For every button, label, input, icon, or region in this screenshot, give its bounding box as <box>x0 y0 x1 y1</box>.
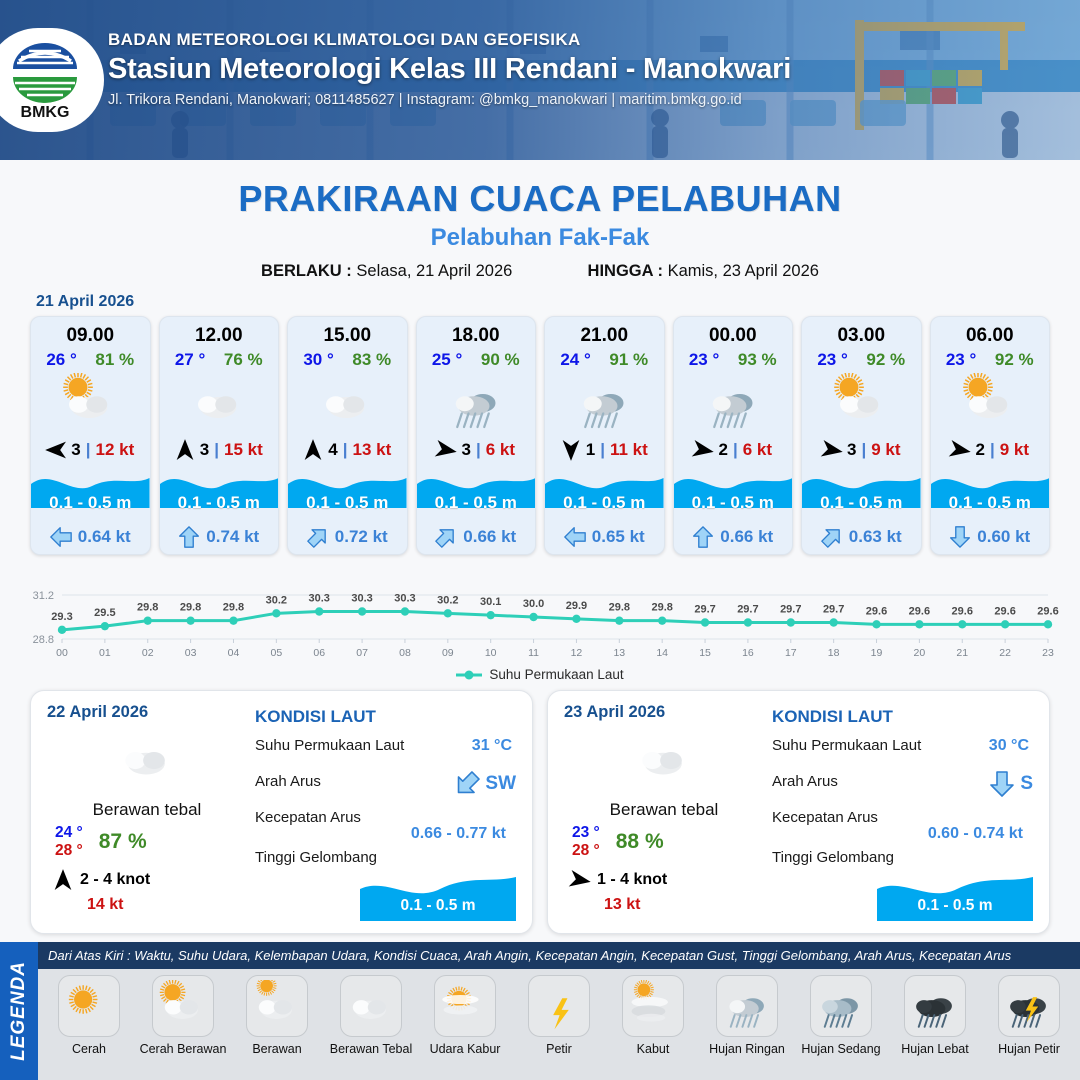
chart-legend-label: Suhu Permukaan Laut <box>489 667 623 682</box>
card-current-speed: 0.63 kt <box>849 527 902 547</box>
hourly-card[interactable]: 18.00 25 ° 90 % 3 | 6 kt 0.1 - 0.5 m 0.6… <box>416 316 537 555</box>
svg-text:18: 18 <box>828 647 840 659</box>
panel-wave-label: Tinggi Gelombang <box>255 849 377 866</box>
chart-legend: Suhu Permukaan Laut <box>0 667 1080 682</box>
card-current-speed: 0.66 kt <box>720 527 773 547</box>
svg-text:12: 12 <box>571 647 583 659</box>
svg-text:01: 01 <box>99 647 111 659</box>
hingga-value: Kamis, 23 April 2026 <box>668 262 819 280</box>
card-gust: 6 kt <box>743 440 772 460</box>
panel-sst-label: Suhu Permukaan Laut <box>772 737 921 754</box>
svg-text:30.2: 30.2 <box>437 594 458 606</box>
card-temp-hum: 23 ° 93 % <box>674 347 793 370</box>
panel-current-dir-value-wrap: S <box>989 771 1033 797</box>
card-wind-speed: 3 <box>847 440 856 460</box>
legend-icon-box <box>152 975 214 1037</box>
card-current-row: 0.74 kt <box>160 520 279 554</box>
wind-direction-arrow-icon <box>561 438 581 462</box>
legend-content: Dari Atas Kiri : Waktu, Suhu Udara, Kele… <box>38 942 1080 1080</box>
legend-item: Hujan Lebat <box>888 975 982 1080</box>
svg-text:14: 14 <box>656 647 668 659</box>
svg-text:29.8: 29.8 <box>180 602 201 614</box>
svg-text:23: 23 <box>1042 647 1054 659</box>
legend-item: Kabut <box>606 975 700 1080</box>
svg-text:29.5: 29.5 <box>94 607 115 619</box>
current-direction-arrow-icon <box>816 521 847 552</box>
hourly-card[interactable]: 00.00 23 ° 93 % 2 | 6 kt 0.1 - 0.5 m 0.6… <box>673 316 794 555</box>
card-temp-hum: 23 ° 92 % <box>802 347 921 370</box>
legend-item: Hujan Petir <box>982 975 1076 1080</box>
legend-item-label: Petir <box>546 1042 572 1056</box>
panel-temp-max: 28 ° <box>55 842 83 860</box>
panel-temp-column: 24 ° 28 ° <box>55 824 83 860</box>
legend-item: Berawan <box>230 975 324 1080</box>
card-temp-hum: 30 ° 83 % <box>288 347 407 370</box>
svg-text:29.6: 29.6 <box>866 605 887 617</box>
card-time: 15.00 <box>288 317 407 347</box>
hingga-label: HINGGA : <box>588 262 663 280</box>
card-wave-height: 0.1 - 0.5 m <box>545 493 664 513</box>
svg-text:16: 16 <box>742 647 754 659</box>
panel-current-dir-label: Arah Arus <box>255 773 321 790</box>
card-current-speed: 0.65 kt <box>592 527 645 547</box>
card-wind-row: 1 | 11 kt <box>545 436 664 466</box>
card-humidity: 83 % <box>352 350 391 370</box>
panel-current-speed-label: Kecepatan Arus <box>255 809 361 826</box>
card-current-speed: 0.66 kt <box>463 527 516 547</box>
station-name: Stasiun Meteorologi Kelas III Rendani - … <box>108 53 791 86</box>
legend-item-label: Berawan Tebal <box>330 1042 412 1056</box>
svg-text:30.3: 30.3 <box>394 593 415 605</box>
rain-heavy-icon <box>909 980 961 1032</box>
card-separator: | <box>214 440 219 460</box>
svg-text:19: 19 <box>871 647 883 659</box>
card-current-row: 0.66 kt <box>674 520 793 554</box>
current-direction-arrow-icon <box>178 526 200 548</box>
svg-text:17: 17 <box>785 647 797 659</box>
panel-weather-icon <box>47 728 247 790</box>
card-separator: | <box>990 440 995 460</box>
card-gust: 15 kt <box>224 440 263 460</box>
card-wind-speed: 2 <box>718 440 727 460</box>
cloud-icon <box>116 728 178 790</box>
svg-text:29.6: 29.6 <box>994 605 1015 617</box>
panel-wind-range: 2 - 4 knot <box>80 871 150 889</box>
card-weather-icon <box>288 370 407 436</box>
card-wave-block: 0.1 - 0.5 m <box>31 466 150 520</box>
panel-current-speed-row: Kecepatan Arus <box>255 809 516 829</box>
svg-text:08: 08 <box>399 647 411 659</box>
legend-icon-box <box>528 975 590 1037</box>
panel-wave-value: 0.1 - 0.5 m <box>877 897 1033 915</box>
panel-wave-row: Tinggi Gelombang <box>255 849 516 875</box>
svg-text:30.0: 30.0 <box>523 598 544 610</box>
header-text-block: BADAN METEOROLOGI KLIMATOLOGI DAN GEOFIS… <box>108 30 791 108</box>
svg-text:06: 06 <box>313 647 325 659</box>
card-current-speed: 0.72 kt <box>335 527 388 547</box>
rain-light-icon <box>721 980 773 1032</box>
svg-text:07: 07 <box>356 647 368 659</box>
panel-condition: Berawan tebal <box>564 800 764 820</box>
current-direction-arrow-icon <box>692 526 714 548</box>
card-separator: | <box>343 440 348 460</box>
haze-icon <box>439 980 491 1032</box>
svg-text:29.6: 29.6 <box>1037 605 1058 617</box>
svg-text:29.7: 29.7 <box>694 604 715 616</box>
legend-icon-box <box>716 975 778 1037</box>
card-weather-icon <box>545 370 664 436</box>
hourly-card[interactable]: 12.00 27 ° 76 % 3 | 15 kt 0.1 - 0.5 m 0.… <box>159 316 280 555</box>
panel-current-dir-value: SW <box>485 773 516 795</box>
svg-text:00: 00 <box>56 647 68 659</box>
svg-text:29.7: 29.7 <box>780 604 801 616</box>
card-time: 03.00 <box>802 317 921 347</box>
panel-sst-row: Suhu Permukaan Laut 31 °C <box>255 737 516 763</box>
card-temperature: 30 ° <box>303 350 333 370</box>
wind-direction-arrow-icon <box>690 438 717 462</box>
card-current-speed: 0.60 kt <box>977 527 1030 547</box>
legend-item-label: Kabut <box>637 1042 670 1056</box>
card-wave-block: 0.1 - 0.5 m <box>931 466 1050 520</box>
card-separator: | <box>600 440 605 460</box>
hourly-card[interactable]: 09.00 26 ° 81 % 3 | 12 kt 0.1 - 0.5 m 0.… <box>30 316 151 555</box>
hourly-forecast-list: 09.00 26 ° 81 % 3 | 12 kt 0.1 - 0.5 m 0.… <box>0 316 1080 555</box>
card-wind-row: 3 | 6 kt <box>417 436 536 466</box>
legend-vertical-bar: LEGENDA <box>0 942 38 1080</box>
berlaku-value: Selasa, 21 April 2026 <box>356 262 512 280</box>
legend-bar-label: LEGENDA <box>8 961 30 1061</box>
legend-icon-box <box>622 975 684 1037</box>
panel-wind-row: 1 - 4 knot <box>564 868 764 892</box>
wind-direction-arrow-icon <box>947 438 974 462</box>
card-wave-height: 0.1 - 0.5 m <box>288 493 407 513</box>
sun-cloud-icon <box>831 373 891 433</box>
svg-text:30.2: 30.2 <box>266 594 287 606</box>
card-wave-block: 0.1 - 0.5 m <box>802 466 921 520</box>
panel-sea-title: KONDISI LAUT <box>255 707 516 727</box>
card-wind-row: 3 | 15 kt <box>160 436 279 466</box>
cloud-icon <box>345 980 397 1032</box>
daily-forecast-panel[interactable]: 22 April 2026 Berawan tebal 24 ° 28 ° 87… <box>30 690 533 934</box>
card-gust: 13 kt <box>352 440 391 460</box>
svg-text:05: 05 <box>271 647 283 659</box>
svg-text:10: 10 <box>485 647 497 659</box>
card-wave-block: 0.1 - 0.5 m <box>674 466 793 520</box>
card-wave-block: 0.1 - 0.5 m <box>288 466 407 520</box>
panel-sst-value: 31 °C <box>472 737 512 755</box>
cloud-icon <box>189 373 249 433</box>
rain-light-icon <box>703 373 763 433</box>
legend-icon-list: Cerah Cerah Berawan Berawan Berawan Teba… <box>38 969 1080 1080</box>
thunderstorm-icon <box>1003 980 1055 1032</box>
card-current-row: 0.63 kt <box>802 520 921 554</box>
y-axis-min-label: 28.8 <box>33 634 54 646</box>
card-wind-row: 3 | 12 kt <box>31 436 150 466</box>
card-time: 06.00 <box>931 317 1050 347</box>
card-time: 12.00 <box>160 317 279 347</box>
panel-wave-box: 0.1 - 0.5 m <box>877 873 1033 921</box>
card-current-speed: 0.74 kt <box>206 527 259 547</box>
card-wave-block: 0.1 - 0.5 m <box>417 466 536 520</box>
wind-direction-arrow-icon <box>53 868 73 892</box>
card-temperature: 24 ° <box>560 350 590 370</box>
card-current-row: 0.72 kt <box>288 520 407 554</box>
card-humidity: 92 % <box>995 350 1034 370</box>
svg-text:30.3: 30.3 <box>309 593 330 605</box>
panel-wind-row: 2 - 4 knot <box>47 868 247 892</box>
current-direction-arrow-icon <box>949 526 971 548</box>
current-direction-arrow-icon <box>431 521 462 552</box>
panel-temp-min: 24 ° <box>55 824 83 842</box>
card-weather-icon <box>417 370 536 436</box>
card-wind-speed: 4 <box>328 440 337 460</box>
panel-date: 23 April 2026 <box>564 703 764 722</box>
card-wind-speed: 3 <box>71 440 80 460</box>
panel-wave-label: Tinggi Gelombang <box>772 849 894 866</box>
panel-condition: Berawan tebal <box>47 800 247 820</box>
legend-item: Cerah <box>42 975 136 1080</box>
card-time: 21.00 <box>545 317 664 347</box>
current-direction-arrow-icon <box>564 526 586 548</box>
svg-text:21: 21 <box>956 647 968 659</box>
cloud-icon <box>317 373 377 433</box>
card-gust: 11 kt <box>610 440 648 460</box>
card-wind-speed: 1 <box>586 440 595 460</box>
legend-item: Cerah Berawan <box>136 975 230 1080</box>
card-weather-icon <box>674 370 793 436</box>
legend-item-label: Hujan Ringan <box>709 1042 785 1056</box>
card-wave-block: 0.1 - 0.5 m <box>160 466 279 520</box>
card-wind-speed: 3 <box>200 440 209 460</box>
panel-current-dir-label: Arah Arus <box>772 773 838 790</box>
panel-temp-min: 23 ° <box>572 824 600 842</box>
legend-item-label: Cerah Berawan <box>140 1042 227 1056</box>
legend-item: Udara Kabur <box>418 975 512 1080</box>
current-direction-arrow-icon <box>50 526 72 548</box>
svg-text:29.7: 29.7 <box>823 604 844 616</box>
card-temp-hum: 25 ° 90 % <box>417 347 536 370</box>
card-wave-block: 0.1 - 0.5 m <box>545 466 664 520</box>
cloud-icon <box>633 728 695 790</box>
panel-current-dir-row: Arah Arus S <box>772 773 1033 799</box>
panel-weather-icon <box>564 728 764 790</box>
wind-direction-arrow-icon <box>303 438 323 462</box>
hourly-card[interactable]: 06.00 23 ° 92 % 2 | 9 kt 0.1 - 0.5 m 0.6… <box>930 316 1051 555</box>
page-subtitle: Pelabuhan Fak-Fak <box>0 224 1080 252</box>
card-time: 09.00 <box>31 317 150 347</box>
card-weather-icon <box>802 370 921 436</box>
card-temp-hum: 23 ° 92 % <box>931 347 1050 370</box>
legend-item-label: Berawan <box>252 1042 301 1056</box>
panel-right: KONDISI LAUT Suhu Permukaan Laut 31 °C A… <box>247 703 516 923</box>
panel-left: 23 April 2026 Berawan tebal 23 ° 28 ° 88… <box>564 703 764 923</box>
card-current-row: 0.66 kt <box>417 520 536 554</box>
card-weather-icon <box>31 370 150 436</box>
card-separator: | <box>733 440 738 460</box>
panel-wave-box: 0.1 - 0.5 m <box>360 873 516 921</box>
wind-direction-arrow-icon <box>818 438 845 462</box>
legend-footer: LEGENDA Dari Atas Kiri : Waktu, Suhu Uda… <box>0 942 1080 1080</box>
rain-light-icon <box>446 373 506 433</box>
card-separator: | <box>86 440 91 460</box>
page-title: PRAKIRAAN CUACA PELABUHAN <box>0 178 1080 220</box>
current-direction-arrow-icon <box>302 521 333 552</box>
svg-text:29.6: 29.6 <box>909 605 930 617</box>
panel-sea-title: KONDISI LAUT <box>772 707 1033 727</box>
card-temperature: 23 ° <box>946 350 976 370</box>
panel-current-dir-row: Arah Arus SW <box>255 773 516 799</box>
panel-sst-value: 30 °C <box>989 737 1029 755</box>
wind-direction-arrow-icon <box>433 438 460 462</box>
panel-current-speed-row: Kecepatan Arus <box>772 809 1033 829</box>
daily-forecast-panel[interactable]: 23 April 2026 Berawan tebal 23 ° 28 ° 88… <box>547 690 1050 934</box>
wind-direction-arrow-icon <box>44 440 68 460</box>
card-humidity: 76 % <box>224 350 263 370</box>
panel-temp-column: 23 ° 28 ° <box>572 824 600 860</box>
card-current-row: 0.64 kt <box>31 520 150 554</box>
card-humidity: 93 % <box>738 350 777 370</box>
legend-item-label: Cerah <box>72 1042 106 1056</box>
panel-wave-value: 0.1 - 0.5 m <box>360 897 516 915</box>
bmkg-logo-mark: BMKG <box>3 39 87 121</box>
card-gust: 12 kt <box>95 440 134 460</box>
panel-current-speed-label: Kecepatan Arus <box>772 809 878 826</box>
svg-text:02: 02 <box>142 647 154 659</box>
card-humidity: 81 % <box>95 350 134 370</box>
panel-gust: 13 kt <box>564 896 764 914</box>
legend-marker-icon <box>456 669 482 681</box>
page-header: BMKG BADAN METEOROLOGI KLIMATOLOGI DAN G… <box>0 0 1080 160</box>
y-axis-max-label: 31.2 <box>33 590 54 602</box>
validity-row: BERLAKU : Selasa, 21 April 2026 HINGGA :… <box>0 262 1080 281</box>
svg-text:11: 11 <box>528 647 539 659</box>
legend-item-label: Udara Kabur <box>430 1042 501 1056</box>
lightning-icon <box>533 980 585 1032</box>
legend-item-label: Hujan Petir <box>998 1042 1060 1056</box>
panel-right: KONDISI LAUT Suhu Permukaan Laut 30 °C A… <box>764 703 1033 923</box>
legend-item: Berawan Tebal <box>324 975 418 1080</box>
bmkg-logo-text: BMKG <box>21 104 70 121</box>
legend-item: Hujan Ringan <box>700 975 794 1080</box>
svg-text:29.7: 29.7 <box>737 604 758 616</box>
card-wave-height: 0.1 - 0.5 m <box>674 493 793 513</box>
legend-icon-box <box>246 975 308 1037</box>
card-wind-row: 2 | 9 kt <box>931 436 1050 466</box>
svg-text:29.8: 29.8 <box>651 602 672 614</box>
card-wind-speed: 3 <box>461 440 470 460</box>
panel-wave-row: Tinggi Gelombang <box>772 849 1033 875</box>
legend-item: Hujan Sedang <box>794 975 888 1080</box>
card-gust: 9 kt <box>1000 440 1029 460</box>
legend-icon-box <box>434 975 496 1037</box>
berlaku-label: BERLAKU : <box>261 262 352 280</box>
panel-gust: 14 kt <box>47 896 247 914</box>
agency-name: BADAN METEOROLOGI KLIMATOLOGI DAN GEOFIS… <box>108 30 791 50</box>
card-temperature: 25 ° <box>432 350 462 370</box>
sun-cloud-icon <box>60 373 120 433</box>
panel-temp-max: 28 ° <box>572 842 600 860</box>
card-temperature: 27 ° <box>175 350 205 370</box>
card-temperature: 26 ° <box>46 350 76 370</box>
svg-text:29.8: 29.8 <box>223 602 244 614</box>
svg-text:20: 20 <box>914 647 926 659</box>
wind-direction-arrow-icon <box>175 438 195 462</box>
svg-text:09: 09 <box>442 647 454 659</box>
svg-text:30.1: 30.1 <box>480 596 501 608</box>
legend-icon-box <box>998 975 1060 1037</box>
panel-current-dir-value: S <box>1020 773 1033 795</box>
svg-text:30.3: 30.3 <box>351 593 372 605</box>
card-wave-height: 0.1 - 0.5 m <box>160 493 279 513</box>
svg-text:13: 13 <box>613 647 625 659</box>
panel-humidity: 88 % <box>616 830 664 854</box>
sst-chart: 31.2 28.8 29.329.529.829.829.830.230.330… <box>20 565 1060 665</box>
hourly-card[interactable]: 15.00 30 ° 83 % 4 | 13 kt 0.1 - 0.5 m 0.… <box>287 316 408 555</box>
svg-text:29.8: 29.8 <box>137 602 158 614</box>
panel-temps: 24 ° 28 ° 87 % <box>47 824 247 860</box>
title-block: PRAKIRAAN CUACA PELABUHAN Pelabuhan Fak-… <box>0 160 1080 281</box>
legend-icon-box <box>810 975 872 1037</box>
card-current-row: 0.60 kt <box>931 520 1050 554</box>
card-wind-row: 4 | 13 kt <box>288 436 407 466</box>
sun-cloud-icon <box>157 980 209 1032</box>
wind-direction-arrow-icon <box>566 868 593 892</box>
card-wave-height: 0.1 - 0.5 m <box>931 493 1050 513</box>
legend-icon-box <box>58 975 120 1037</box>
panel-temps: 23 ° 28 ° 88 % <box>564 824 764 860</box>
sun-icon <box>63 980 115 1032</box>
hourly-card[interactable]: 21.00 24 ° 91 % 1 | 11 kt 0.1 - 0.5 m 0.… <box>544 316 665 555</box>
legend-icon-box <box>904 975 966 1037</box>
svg-text:15: 15 <box>699 647 711 659</box>
card-wind-speed: 2 <box>975 440 984 460</box>
svg-text:29.8: 29.8 <box>609 602 630 614</box>
card-temp-hum: 24 ° 91 % <box>545 347 664 370</box>
card-wind-row: 3 | 9 kt <box>802 436 921 466</box>
rain-light-icon <box>574 373 634 433</box>
contact-line: Jl. Trikora Rendani, Manokwari; 08114856… <box>108 92 791 108</box>
legend-item: Petir <box>512 975 606 1080</box>
panel-sst-row: Suhu Permukaan Laut 30 °C <box>772 737 1033 763</box>
card-temperature: 23 ° <box>689 350 719 370</box>
rain-moderate-icon <box>815 980 867 1032</box>
card-wave-height: 0.1 - 0.5 m <box>417 493 536 513</box>
fog-icon <box>627 980 679 1032</box>
current-direction-arrow-icon <box>449 766 486 803</box>
card-current-row: 0.65 kt <box>545 520 664 554</box>
card-temperature: 23 ° <box>817 350 847 370</box>
hourly-card[interactable]: 03.00 23 ° 92 % 3 | 9 kt 0.1 - 0.5 m 0.6… <box>801 316 922 555</box>
current-direction-arrow-icon <box>989 771 1015 797</box>
card-separator: | <box>476 440 481 460</box>
card-humidity: 92 % <box>866 350 905 370</box>
svg-text:29.3: 29.3 <box>51 611 72 623</box>
svg-text:22: 22 <box>999 647 1011 659</box>
panel-date: 22 April 2026 <box>47 703 247 722</box>
panel-current-dir-value-wrap: SW <box>454 771 516 797</box>
panel-humidity: 87 % <box>99 830 147 854</box>
svg-text:29.9: 29.9 <box>566 600 587 612</box>
panel-wind-range: 1 - 4 knot <box>597 871 667 889</box>
card-weather-icon <box>931 370 1050 436</box>
card-wave-height: 0.1 - 0.5 m <box>802 493 921 513</box>
sun-cloud-icon <box>960 373 1020 433</box>
card-temp-hum: 26 ° 81 % <box>31 347 150 370</box>
card-current-speed: 0.64 kt <box>78 527 131 547</box>
hourly-day-label: 21 April 2026 <box>36 293 1080 311</box>
card-wind-row: 2 | 6 kt <box>674 436 793 466</box>
card-gust: 6 kt <box>486 440 515 460</box>
